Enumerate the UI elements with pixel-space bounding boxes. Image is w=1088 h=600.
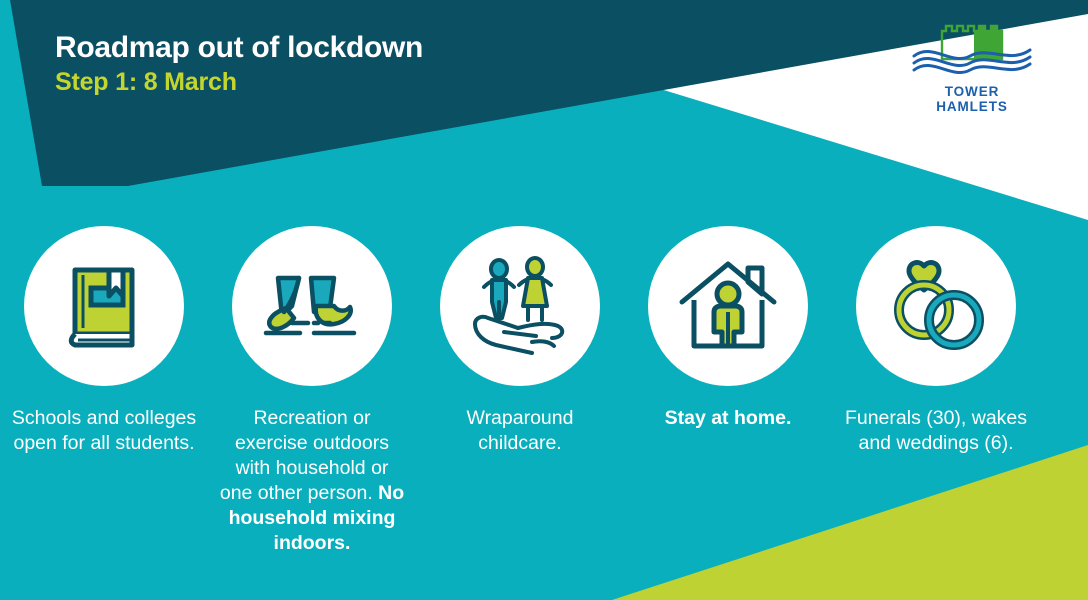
icon-circle bbox=[648, 226, 808, 386]
card-funerals-weddings: Funerals (30), wakes and weddings (6). bbox=[833, 226, 1039, 556]
icon-circle bbox=[440, 226, 600, 386]
book-icon bbox=[48, 250, 160, 362]
caption-plain: Funerals (30), wakes and weddings (6). bbox=[845, 407, 1027, 454]
card-caption: Stay at home. bbox=[635, 406, 821, 431]
caption-plain: Recreation or exercise outdoors with hou… bbox=[220, 407, 389, 504]
logo-wordmark: TOWER HAMLETS bbox=[908, 84, 1036, 114]
running-legs-icon bbox=[252, 250, 372, 362]
wedding-rings-icon bbox=[878, 250, 994, 362]
icon-circle bbox=[24, 226, 184, 386]
hand-holding-children-icon bbox=[462, 250, 578, 362]
card-caption: Schools and colleges open for all studen… bbox=[11, 406, 197, 456]
house-with-person-icon bbox=[670, 250, 786, 362]
card-recreation: Recreation or exercise outdoors with hou… bbox=[209, 226, 415, 556]
icon-circle bbox=[232, 226, 392, 386]
card-caption: Recreation or exercise outdoors with hou… bbox=[219, 406, 405, 556]
card-childcare: Wraparound childcare. bbox=[417, 226, 623, 556]
page-title: Roadmap out of lockdown bbox=[55, 31, 423, 65]
card-schools: Schools and colleges open for all studen… bbox=[1, 226, 207, 556]
card-stay-home: Stay at home. bbox=[625, 226, 831, 556]
castle-waves-icon bbox=[908, 20, 1036, 82]
caption-plain: Schools and colleges open for all studen… bbox=[12, 407, 196, 454]
caption-plain: Stay at home. bbox=[665, 407, 792, 429]
card-caption: Wraparound childcare. bbox=[427, 406, 613, 456]
caption-plain: Wraparound childcare. bbox=[467, 407, 574, 454]
infographic-poster: Roadmap out of lockdown Step 1: 8 March … bbox=[0, 0, 1088, 600]
page-subtitle: Step 1: 8 March bbox=[55, 68, 423, 98]
tower-hamlets-logo: TOWER HAMLETS bbox=[908, 20, 1036, 114]
steps-row: Schools and colleges open for all studen… bbox=[0, 226, 1088, 556]
icon-circle bbox=[856, 226, 1016, 386]
header-text-block: Roadmap out of lockdown Step 1: 8 March bbox=[55, 31, 423, 97]
card-caption: Funerals (30), wakes and weddings (6). bbox=[843, 406, 1029, 456]
